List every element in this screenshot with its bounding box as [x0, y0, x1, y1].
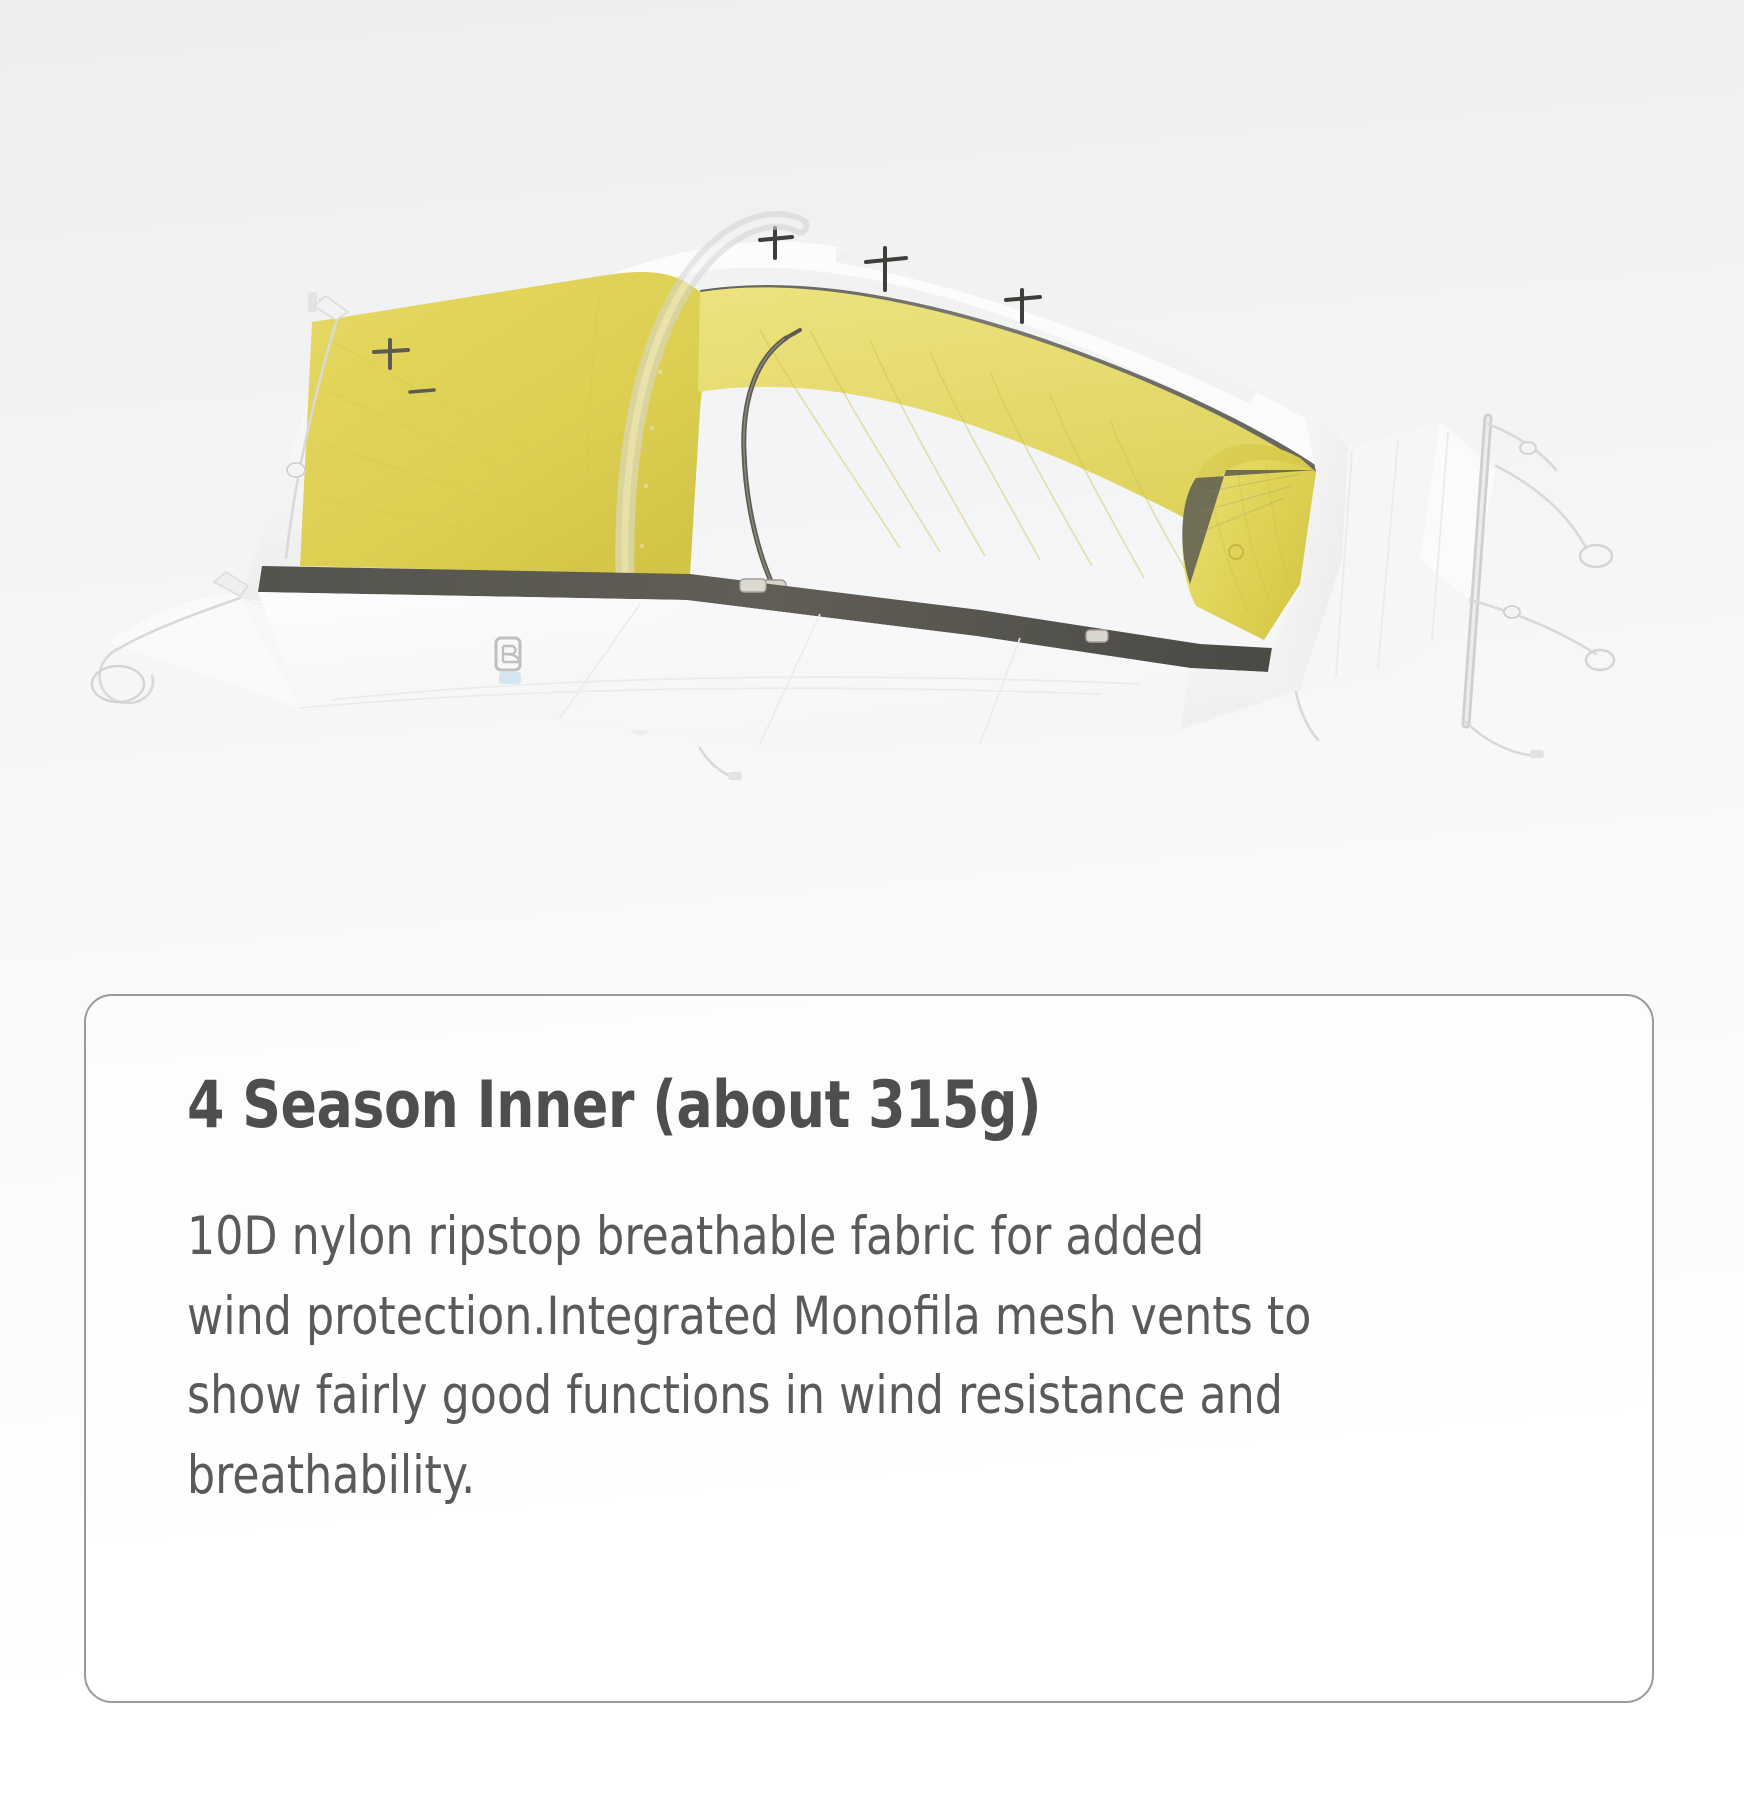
outer-fly-groundsheet	[258, 592, 1300, 750]
fly-corner-pull-left	[214, 572, 248, 596]
inner-tent-body	[276, 272, 1316, 588]
cord-lock-right	[1504, 442, 1536, 618]
page-title: 4 Season Inner (about 315g)	[187, 1072, 1041, 1140]
product-image	[0, 0, 1744, 880]
product-detail-page: 4 Season Inner (about 315g) 10D nylon ri…	[0, 0, 1744, 1796]
product-feature-card: 4 Season Inner (about 315g) 10D nylon ri…	[84, 994, 1654, 1703]
tent-illustration	[0, 0, 1744, 880]
feature-description: 10D nylon ripstop breathable fabric for …	[187, 1197, 1312, 1515]
cord-lock-left	[287, 463, 305, 477]
